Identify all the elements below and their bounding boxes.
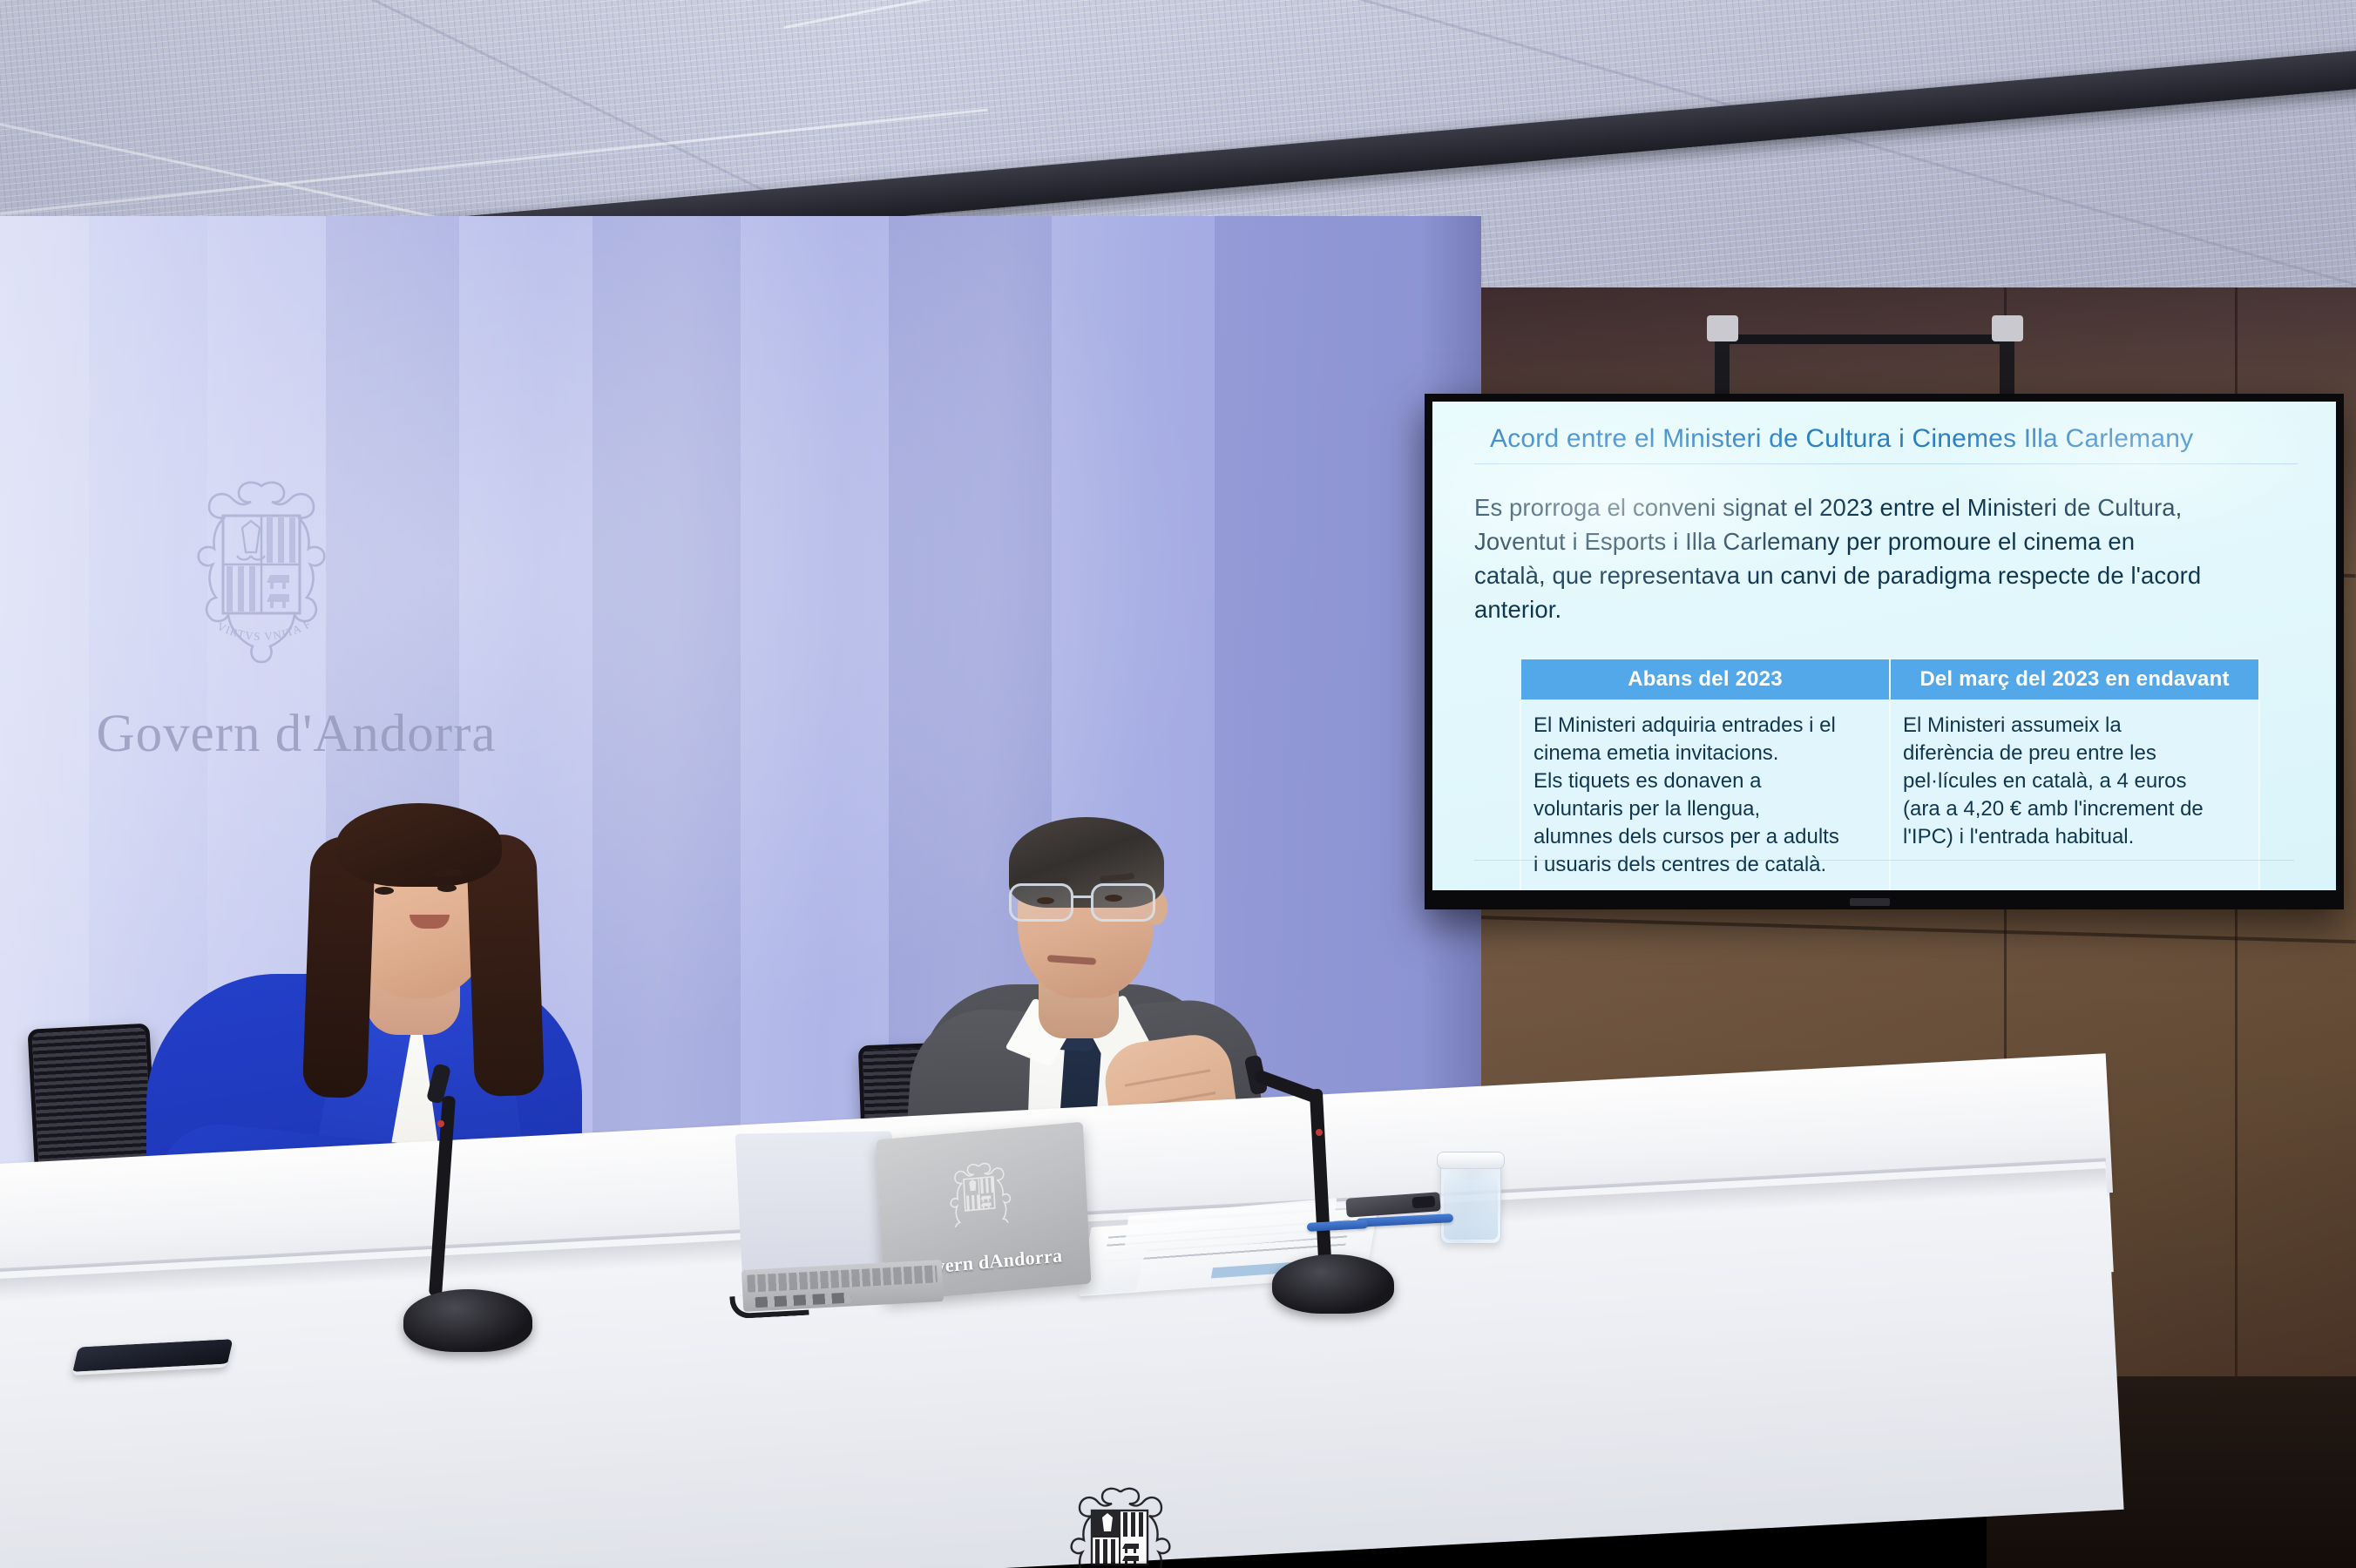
cell-line: l'IPC) i l'entrada habitual. — [1903, 823, 2246, 851]
cell-line: i usuaris dels centres de català. — [1533, 851, 1877, 879]
cell-line: diferència de preu entre les — [1903, 740, 2246, 767]
glasses-bridge — [1073, 896, 1091, 898]
water-level — [1444, 1179, 1498, 1240]
laptop-coat-of-arms-icon — [945, 1159, 1013, 1227]
mic-base[interactable] — [1272, 1254, 1394, 1314]
slide: Acord entre el Ministeri de Cultura i Ci… — [1432, 402, 2336, 890]
screen-surface: Acord entre el Ministeri de Cultura i Ci… — [1432, 402, 2336, 890]
hair-bangs — [336, 803, 502, 887]
slide-footer-divider — [1474, 860, 2294, 861]
table-row: El Ministeri adquiria entrades i el cine… — [1520, 700, 2259, 890]
comparison-table: Abans del 2023 Del març del 2023 en enda… — [1520, 658, 2260, 890]
cell-line: cinema emetia invitacions. — [1533, 740, 1877, 767]
cell-line: voluntaris per la llengua, — [1533, 795, 1877, 823]
eye-right — [437, 884, 457, 892]
eye-left — [1037, 897, 1054, 904]
cell-line: (ara a 4,20 € amb l'increment de — [1903, 795, 2246, 823]
cell-line: Els tiquets es donaven a — [1533, 767, 1877, 795]
slide-body-line: anterior. — [1474, 592, 2298, 626]
screen-mount-rig — [1694, 287, 2042, 409]
slide-title-divider — [1474, 463, 2298, 464]
keyboard-keys — [747, 1265, 938, 1292]
mic-status-led — [1316, 1129, 1323, 1136]
slide-title: Acord entre el Ministeri de Cultura i Ci… — [1474, 424, 2298, 454]
desk-coat-of-arms-icon — [1059, 1486, 1181, 1568]
water-glass[interactable] — [1440, 1159, 1501, 1244]
eye-left — [375, 887, 394, 895]
ceiling-anchor — [1992, 315, 2023, 341]
press-conference-scene: VIRTVS VNITA FORTIOR Govern d'Andorra Go… — [0, 0, 2356, 1568]
slide-body: Es prorroga el conveni signat el 2023 en… — [1474, 490, 2298, 626]
table-header-before: Abans del 2023 — [1520, 659, 1890, 700]
eye-right — [1105, 895, 1122, 902]
laptop-screen-back — [735, 1132, 900, 1282]
andorra-coat-of-arms-icon: VIRTVS VNITA FORTIOR — [174, 477, 349, 692]
table-header-row: Abans del 2023 Del març del 2023 en enda… — [1520, 659, 2259, 700]
laptop-cable — [729, 1293, 809, 1320]
slide-body-line: català, que representava un canvi de par… — [1474, 558, 2298, 592]
table-cell-before: El Ministeri adquiria entrades i el cine… — [1520, 700, 1890, 890]
slide-body-line: Joventut i Esports i Illa Carlemany per … — [1474, 524, 2298, 558]
phone-camera-module — [1412, 1196, 1435, 1209]
screen-brand-plate — [1850, 898, 1890, 906]
cell-line: pel·lícules en català, a 4 euros — [1903, 767, 2246, 795]
cell-line: El Ministeri assumeix la — [1903, 712, 2246, 740]
water-glass-lid[interactable] — [1437, 1152, 1505, 1169]
cell-line: alumnes dels cursos per a adults — [1533, 823, 1877, 851]
ceiling-anchor — [1707, 315, 1738, 341]
presentation-screen[interactable]: Acord entre el Ministeri de Cultura i Ci… — [1425, 394, 2344, 909]
table-header-after: Del març del 2023 en endavant — [1890, 659, 2259, 700]
glasses-lens-right — [1091, 883, 1155, 922]
mic-status-led — [437, 1120, 444, 1127]
cell-line: El Ministeri adquiria entrades i el — [1533, 712, 1877, 740]
table-cell-after: El Ministeri assumeix la diferència de p… — [1890, 700, 2259, 890]
mount-crossbar — [1715, 335, 2014, 344]
mic-base[interactable] — [403, 1289, 532, 1352]
backdrop-brand-title: Govern d'Andorra — [52, 704, 540, 765]
slide-body-line: Es prorroga el conveni signat el 2023 en… — [1474, 490, 2298, 524]
glasses-icon — [1009, 883, 1171, 923]
